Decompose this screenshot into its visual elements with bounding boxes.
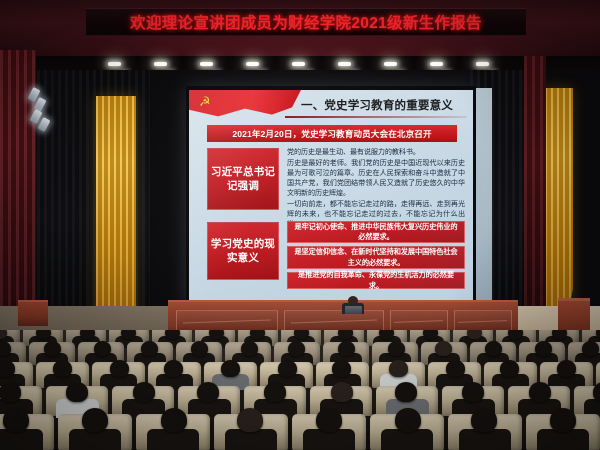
audience-member-head xyxy=(164,360,183,377)
slide-label-practical-significance: 学习党史的现实意义 xyxy=(207,222,279,280)
audience-member-head xyxy=(379,330,394,339)
audience-member-head xyxy=(250,330,265,339)
audience-seat xyxy=(178,386,240,416)
audience-member-shoulders xyxy=(303,429,355,450)
table-panel xyxy=(176,310,278,332)
audience-member-head xyxy=(446,360,465,377)
audience-member-head xyxy=(197,382,219,402)
audience-member-head xyxy=(94,341,111,356)
slide-label-xi-jinping: 习近平总书记记强调 xyxy=(207,148,279,210)
ceiling-lamp xyxy=(108,62,121,66)
table-panel-trim xyxy=(183,319,271,329)
projection-screen-frame: ☭ 一、党史学习教育的重要意义 2021年2月20日，党史学习教育动员大会在北京… xyxy=(186,86,476,308)
audience-member-head xyxy=(0,341,11,356)
audience-member-head xyxy=(237,408,263,432)
audience-member-head xyxy=(241,341,258,356)
audience-member-head xyxy=(82,408,108,432)
curtain-red-right xyxy=(524,56,546,320)
audience-seat xyxy=(214,414,288,450)
slide-bullet-3: 是推进党的自我革命、永葆党的生机活力的必然要求。 xyxy=(287,272,465,289)
ceiling-lamp xyxy=(200,62,213,66)
slide-label-practical-significance-text: 学习党史的现实意义 xyxy=(208,237,278,265)
slide-paragraph-2: 历史是最好的老师。我们党的历史是中国近现代以来历史最为可歌可泣的篇章。历史在人民… xyxy=(287,158,465,198)
audience-member-head xyxy=(395,408,421,432)
audience-member-head xyxy=(423,330,438,339)
audience-member-head xyxy=(165,330,180,339)
audience-member-head xyxy=(471,408,497,432)
audience-member-head xyxy=(332,360,351,377)
audience-member-shoulders xyxy=(537,429,589,450)
slide-date-bar-text: 2021年2月20日，党史学习教育动员大会在北京召开 xyxy=(232,128,431,140)
audience-member-head xyxy=(557,360,576,377)
audience-seat xyxy=(574,386,600,416)
audience-member-head xyxy=(338,341,355,356)
audience-member-shoulders xyxy=(147,429,199,450)
spotlight-rig xyxy=(30,88,56,128)
audience-member-head xyxy=(395,382,417,402)
audience-member-head xyxy=(209,330,224,339)
audience-member-head xyxy=(191,341,208,356)
audience-member-head xyxy=(388,341,405,356)
led-banner: 欢迎理论宣讲团成员为财经学院2021级新生作报告 xyxy=(86,8,526,36)
audience-seat xyxy=(58,414,132,450)
audience-row xyxy=(0,362,600,388)
audience-member-head xyxy=(36,330,51,339)
table-panel xyxy=(390,310,448,332)
table-panel xyxy=(284,310,384,332)
audience-member-head xyxy=(462,382,484,402)
audience-member-head xyxy=(467,330,482,339)
audience-member-head xyxy=(3,408,29,432)
ceiling-lamp xyxy=(246,62,259,66)
audience-member-head xyxy=(535,341,552,356)
audience-member-head xyxy=(0,360,15,377)
audience-member-head xyxy=(0,382,21,402)
curtain-gold-left xyxy=(96,96,136,318)
audience-member-head xyxy=(389,360,408,377)
table-panel xyxy=(454,310,512,332)
audience-seat xyxy=(148,362,201,388)
audience-member-head xyxy=(288,341,305,356)
audience-seat xyxy=(136,414,210,450)
audience-member-head xyxy=(221,360,240,377)
ceiling-lamp xyxy=(430,62,443,66)
slide-bullet-2: 是坚定信仰信念、在新时代坚持和发展中国特色社会主义的必然要求。 xyxy=(287,246,465,269)
slide-label-xi-jinping-text: 习近平总书记记强调 xyxy=(208,165,278,193)
audience-member-head xyxy=(121,330,136,339)
ceiling-lamp xyxy=(154,62,167,66)
table-panel-trim xyxy=(394,320,443,329)
audience-member-head xyxy=(338,330,353,339)
audience-member-head xyxy=(582,341,599,356)
audience-member-head xyxy=(133,382,155,402)
ceiling-lamp xyxy=(476,62,489,66)
slide-bullet-1: 是牢记初心使命、推进中华民族伟大复兴历史伟业的必然要求。 xyxy=(287,221,465,243)
audience-member-head xyxy=(529,382,551,402)
podium-left xyxy=(18,300,48,326)
presenter-head xyxy=(348,296,358,305)
audience-seat xyxy=(526,414,600,450)
slide-date-bar: 2021年2月20日，党史学习教育动员大会在北京召开 xyxy=(207,125,457,142)
slide-paragraph-1: 党的历史是最生动、最有说服力的教科书。 xyxy=(287,147,465,157)
audience-member-head xyxy=(161,408,187,432)
slide-title: 一、党史学习教育的重要意义 xyxy=(285,95,469,115)
audience-member-head xyxy=(44,341,61,356)
audience-area xyxy=(0,330,600,450)
audience-member-head xyxy=(550,408,576,432)
table-panel-trim xyxy=(291,319,377,329)
audience-member-head xyxy=(508,330,523,339)
audience-seat xyxy=(448,414,522,450)
audience-member-shoulders xyxy=(69,429,121,450)
audience-member-head xyxy=(485,341,502,356)
audience-seat xyxy=(484,362,537,388)
audience-member-head xyxy=(53,360,72,377)
presenter-laptop xyxy=(345,306,362,314)
audience-member-head xyxy=(316,408,342,432)
audience-member-head xyxy=(552,330,567,339)
auditorium-scene: 欢迎理论宣讲团成员为财经学院2021级新生作报告 ☭ 一、党史学习教育的重要意义… xyxy=(0,0,600,450)
audience-member-head xyxy=(435,341,452,356)
audience-member-head xyxy=(110,360,129,377)
audience-member-head xyxy=(278,360,297,377)
slide-title-rule xyxy=(285,116,467,118)
audience-member-head xyxy=(331,382,353,402)
hammer-and-sickle-icon: ☭ xyxy=(199,95,214,108)
audience-member-shoulders xyxy=(381,429,433,450)
audience-member-head xyxy=(80,330,95,339)
audience-member-head xyxy=(264,382,286,402)
audience-seat xyxy=(292,414,366,450)
audience-seat xyxy=(370,414,444,450)
audience-seat xyxy=(0,414,54,450)
audience-row xyxy=(0,414,600,450)
banner-text: 欢迎理论宣讲团成员为财经学院2021级新生作报告 xyxy=(130,11,482,33)
ceiling-lamp xyxy=(338,62,351,66)
slide-body-text: 党的历史是最生动、最有说服力的教科书。 历史是最好的老师。我们党的历史是中国近现… xyxy=(287,147,465,231)
table-panel-trim xyxy=(458,320,507,329)
audience-member-head xyxy=(141,341,158,356)
audience-member-head xyxy=(66,382,88,402)
audience-member-shoulders xyxy=(459,429,511,450)
audience-member-shoulders xyxy=(225,429,277,450)
ceiling-lamp xyxy=(292,62,305,66)
audience-member-shoulders xyxy=(0,429,43,450)
audience-member-head xyxy=(500,360,519,377)
audience-member-head xyxy=(294,330,309,339)
ceiling-lamp xyxy=(384,62,397,66)
projection-screen: ☭ 一、党史学习教育的重要意义 2021年2月20日，党史学习教育动员大会在北京… xyxy=(189,90,473,302)
